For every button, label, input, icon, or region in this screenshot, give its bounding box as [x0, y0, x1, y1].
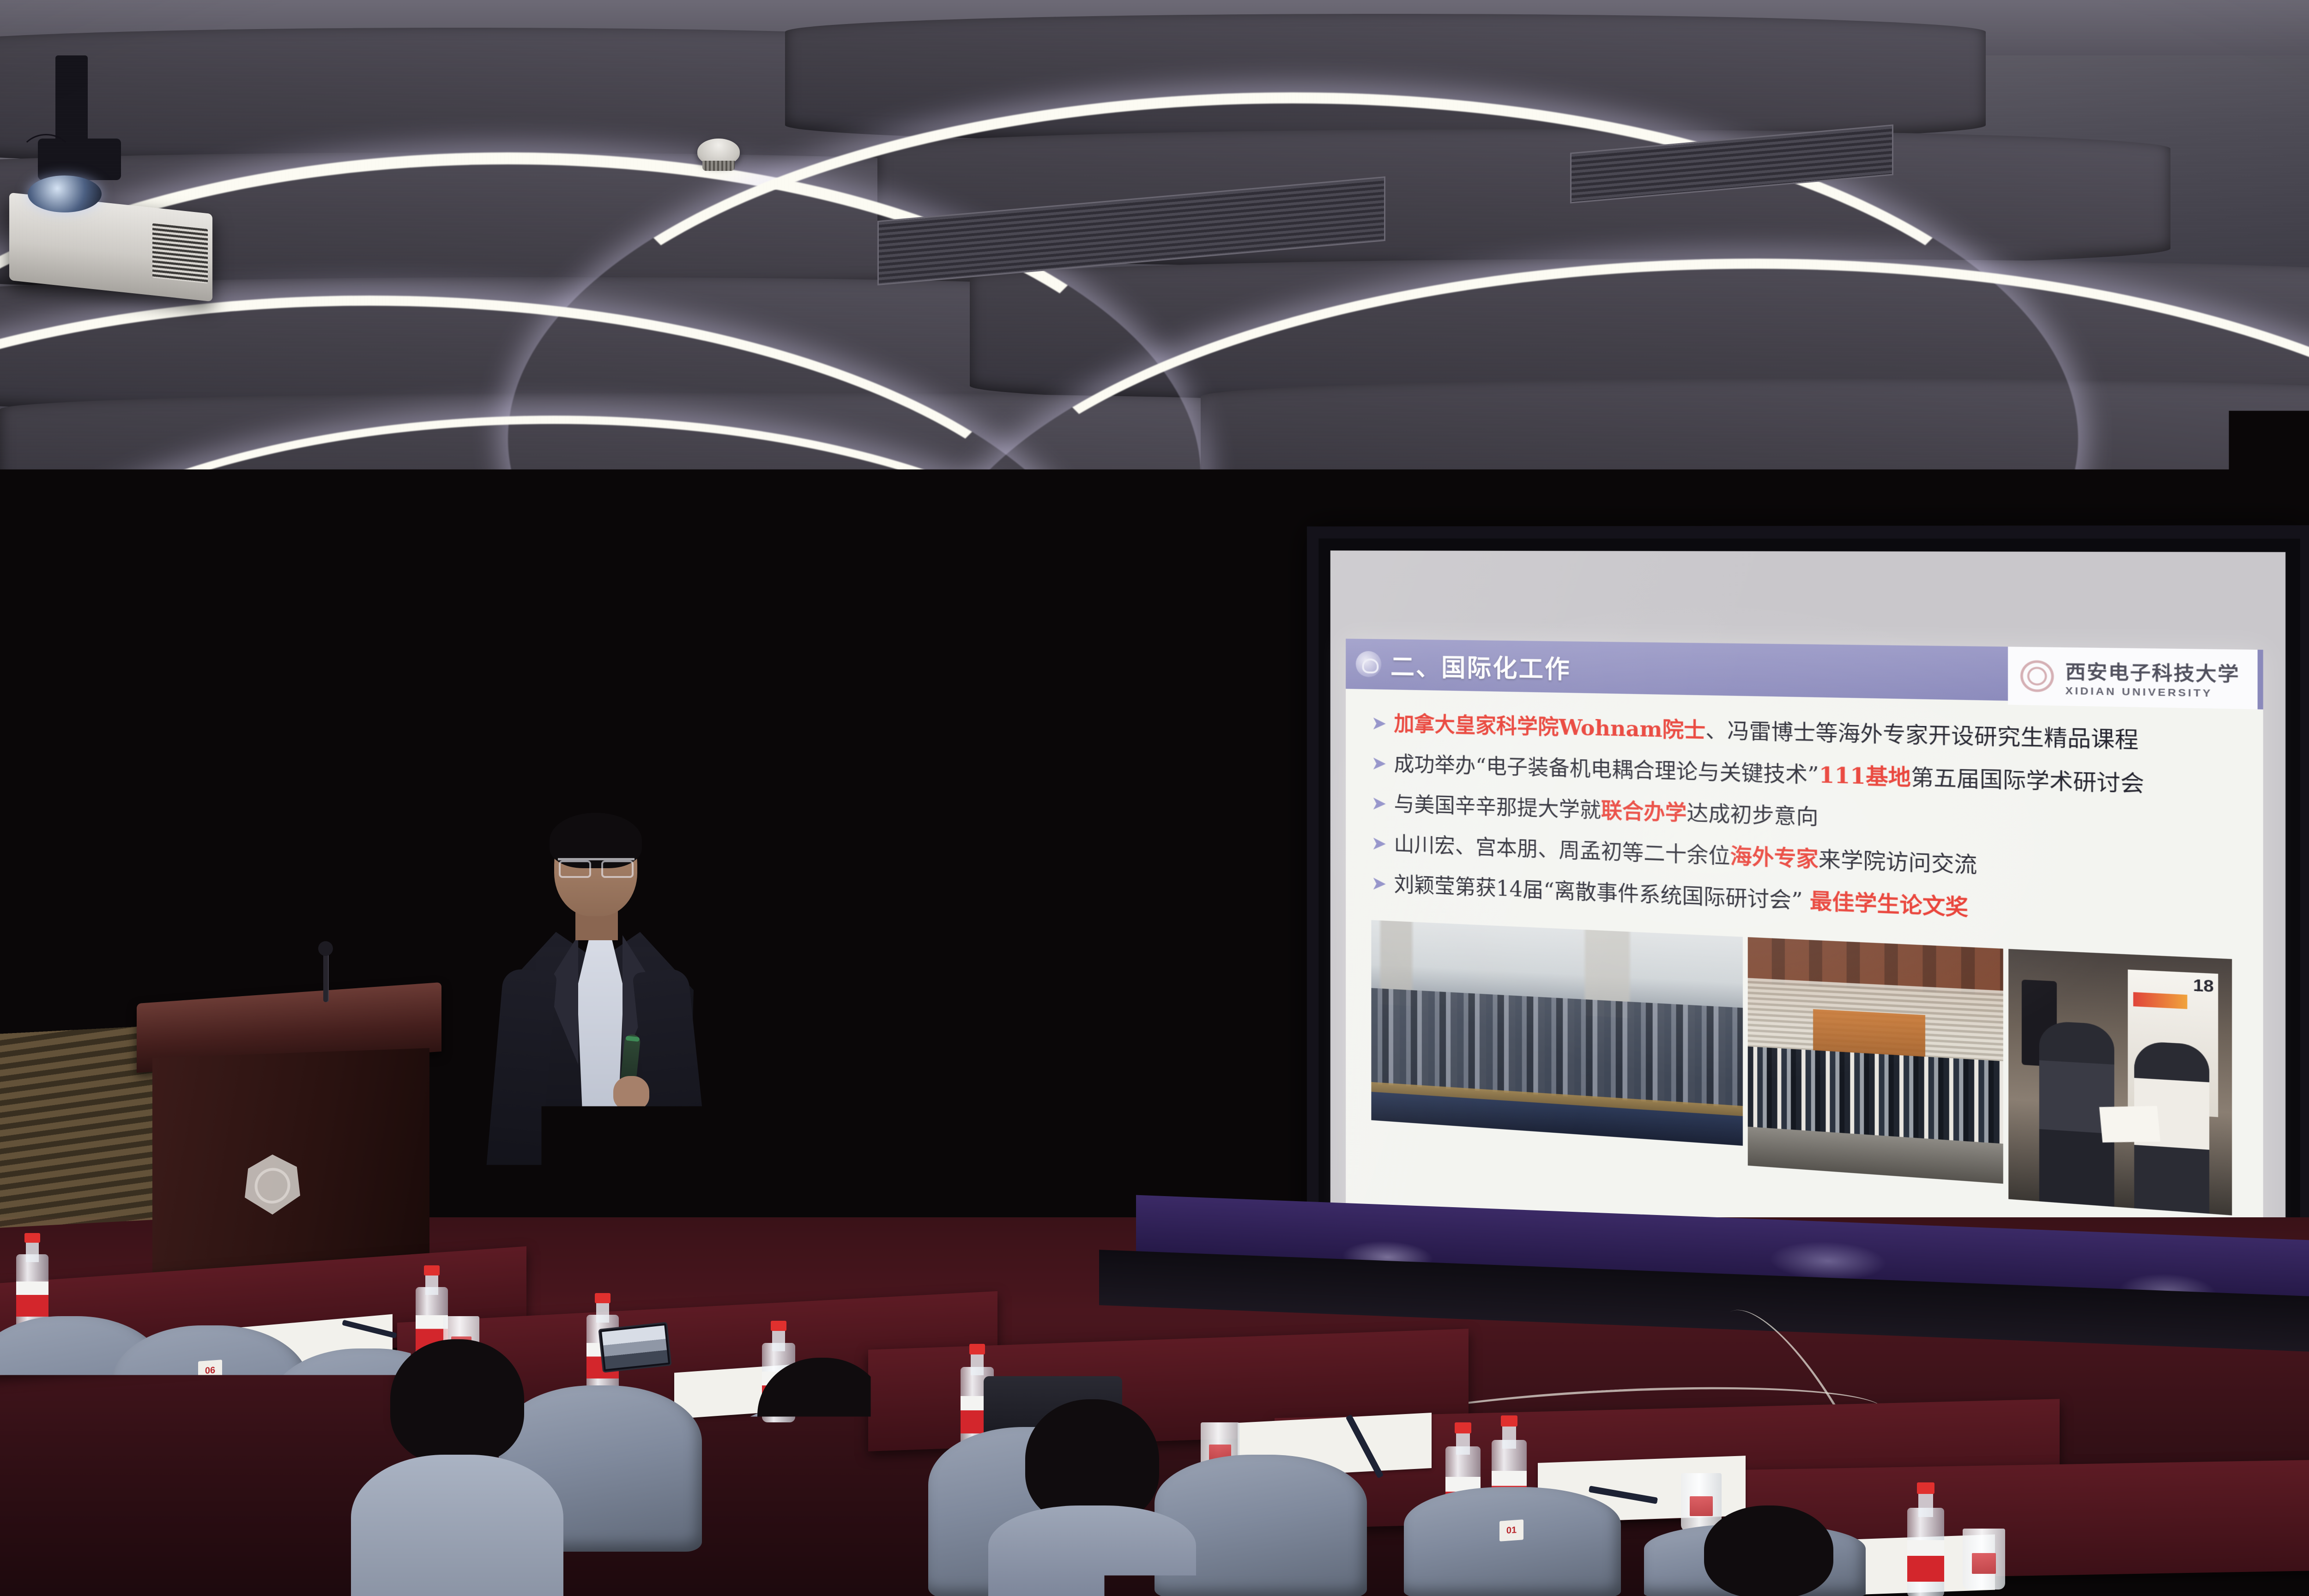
presenter-hand: [497, 1173, 531, 1203]
slide-bullet: ➤ 成功举办“电子装备机电耦合理论与关键技术”111基地第五届国际学术研讨会: [1371, 751, 2232, 800]
presenter-hand: [613, 1076, 649, 1110]
glasses-icon: [558, 858, 635, 874]
globe-icon: [1356, 651, 1381, 677]
slide-title: 二、国际化工作: [1390, 647, 1571, 685]
audience-member-taking-notes: [92, 1201, 286, 1385]
bullet-marker-icon: ➤: [1371, 872, 1386, 895]
person-torso: [351, 1455, 563, 1596]
water-bottle: [16, 1233, 48, 1330]
person-torso: [988, 1505, 1196, 1596]
bottle-neck: [26, 1241, 39, 1262]
person-torso: [92, 1288, 286, 1385]
seat-number-tag: 02: [230, 1468, 254, 1490]
person-head: [1704, 1505, 1833, 1596]
mobile-phone-icon[interactable]: [598, 1322, 671, 1372]
audience-member-with-phone: [351, 1339, 563, 1596]
bullet-text: 刘颖莹第获14届“离散事件系统国际研讨会” 最佳学生论文奖: [1394, 872, 1969, 921]
award-ceremony-photo: [2008, 949, 2232, 1215]
university-name-cn: 西安电子科技大学: [2065, 656, 2240, 686]
seat-number-tag: 01: [1499, 1519, 1523, 1542]
standing-group-photo: [1748, 937, 2003, 1184]
bottle-label: [16, 1282, 48, 1317]
bottle-cap: [24, 1233, 40, 1243]
university-logo: 西安电子科技大学 XIDIAN UNIVERSITY: [2008, 647, 2263, 709]
bullet-text: 与美国辛辛那提大学就联合办学达成初步意向: [1394, 792, 1819, 830]
water-bottle: [1907, 1482, 1944, 1596]
slide-bullet-list: ➤ 加拿大皇家科学院Wohnam院士、冯雷博士等海外专家开设研究生精品课程 ➤ …: [1346, 689, 2263, 934]
lecture-hall-scene: 二、国际化工作 西安电子科技大学 XIDIAN UNIVERSITY: [0, 0, 2309, 1596]
slide-photo-strip: [1346, 910, 2263, 1238]
audience-member: [577, 1422, 799, 1596]
bullet-marker-icon: ➤: [1371, 752, 1386, 774]
ceiling: [0, 0, 2309, 503]
bullet-text: 成功举办“电子装备机电耦合理论与关键技术”111基地第五届国际学术研讨会: [1394, 752, 2145, 798]
bullet-marker-icon: ➤: [1371, 792, 1386, 815]
lecture-hall-group-photo: [1371, 920, 1743, 1146]
bullet-marker-icon: ➤: [1371, 713, 1386, 735]
bullet-text: 加拿大皇家科学院Wohnam院士、冯雷博士等海外专家开设研究生精品课程: [1394, 712, 2139, 754]
slide-bullet: ➤ 加拿大皇家科学院Wohnam院士、冯雷博士等海外专家开设研究生精品课程: [1371, 712, 2232, 756]
smoke-detector-icon: [697, 139, 740, 165]
person-torso: [577, 1524, 799, 1596]
paper-cup: [1963, 1529, 2005, 1590]
projector-lens-icon: [28, 175, 102, 212]
bullet-text: 山川宏、宫本朋、周孟初等二十余位海外专家来学院访问交流: [1394, 832, 1977, 878]
projector-vent-icon: [152, 224, 208, 284]
phone-screen: [602, 1325, 668, 1369]
audience-member: [1672, 1505, 1866, 1596]
presentation-slide: 二、国际化工作 西安电子科技大学 XIDIAN UNIVERSITY: [1346, 639, 2263, 1288]
podium-microphone-icon: [323, 951, 328, 1002]
xidian-seal-icon: [2016, 654, 2058, 698]
audience-member: [988, 1399, 1196, 1596]
person-head: [390, 1339, 524, 1464]
curtain-valance: [199, 499, 1178, 526]
bullet-marker-icon: ➤: [1371, 833, 1386, 855]
photo-detail: [2099, 1106, 2161, 1142]
university-name-en: XIDIAN UNIVERSITY: [2065, 685, 2240, 701]
auditorium-seat: 01: [1404, 1487, 1621, 1596]
projector-mount-pole: [55, 55, 88, 148]
wall-acoustic-baffle: [0, 1026, 152, 1227]
